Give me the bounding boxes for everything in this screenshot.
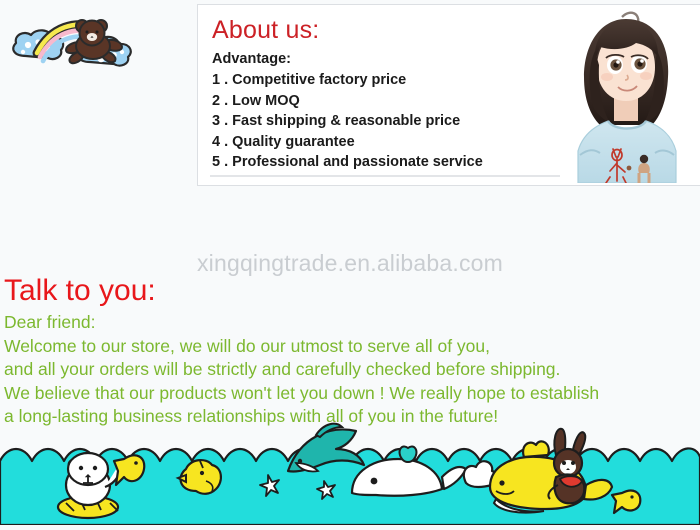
list-item: 2 . Low MOQ [212, 91, 542, 112]
advantage-text: Quality guarantee [232, 134, 354, 150]
message-line: Dear friend: [4, 311, 694, 335]
list-item: 1 . Competitive factory price [212, 70, 542, 91]
top-section: About us: Advantage: 1 . Competitive fac… [0, 0, 700, 192]
list-item: 5 . Professional and passionate service [212, 152, 542, 173]
message-line: We believe that our products won't let y… [4, 382, 694, 406]
list-item: 3 . Fast shipping & reasonable price [212, 111, 542, 132]
girl-portrait-photo [560, 5, 692, 183]
message-line: and all your orders will be strictly and… [4, 358, 694, 382]
advantage-text: Competitive factory price [232, 72, 406, 88]
small-yellow-fish-icon [612, 491, 640, 513]
advantage-number: 3 . [212, 111, 228, 132]
ocean-wave-border [0, 415, 700, 525]
banner-page: About us: Advantage: 1 . Competitive fac… [0, 0, 700, 525]
talk-to-you-title: Talk to you: [4, 274, 156, 308]
advantage-number: 4 . [212, 132, 228, 153]
advantage-text: Professional and passionate service [232, 154, 483, 170]
advantage-number: 5 . [212, 152, 228, 173]
about-us-panel: About us: Advantage: 1 . Competitive fac… [197, 4, 700, 186]
about-us-content: About us: Advantage: 1 . Competitive fac… [212, 13, 542, 173]
rainbow-bear-logo [4, 4, 156, 76]
message-line: Welcome to our store, we will do our utm… [4, 335, 694, 359]
talk-to-you-message: Dear friend: Welcome to our store, we wi… [4, 311, 694, 429]
list-item: 4 . Quality guarantee [212, 132, 542, 153]
advantage-number: 1 . [212, 70, 228, 91]
advantage-label: Advantage: [212, 49, 542, 70]
advantage-number: 2 . [212, 91, 228, 112]
about-us-title: About us: [212, 13, 542, 47]
site-watermark: xingqingtrade.en.alibaba.com [0, 250, 700, 277]
advantage-text: Low MOQ [232, 93, 300, 109]
advantage-list: 1 . Competitive factory price 2 . Low MO… [212, 70, 542, 173]
advantage-text: Fast shipping & reasonable price [232, 113, 460, 129]
